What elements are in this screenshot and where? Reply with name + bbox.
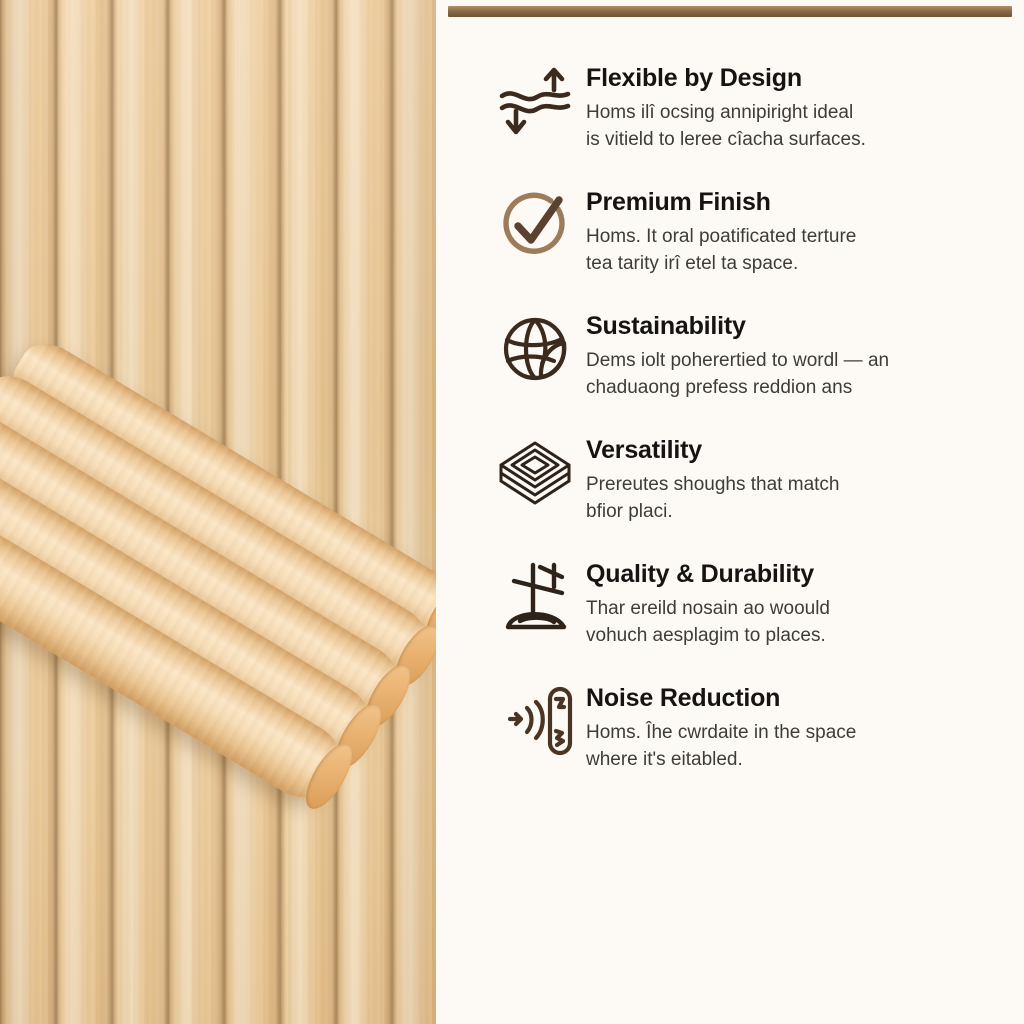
feature-item-premium-finish[interactable]: Premium Finish Homs. It oral poatificate… (436, 174, 1024, 292)
globe-leaf-icon (492, 302, 578, 398)
feature-desc-line-2: where it's eitabled. (586, 747, 946, 774)
feature-title: Sustainability (586, 312, 1006, 340)
feature-desc-line-1: Thar ereild nosain ao woould (586, 596, 946, 623)
feature-text-block: Flexible by Design Homs ilî ocsing annip… (578, 50, 1006, 154)
feature-description: Homs ilî ocsing annipiright ideal is vit… (586, 100, 946, 154)
feature-title: Premium Finish (586, 188, 1006, 216)
circle-check-icon (492, 178, 578, 274)
feature-text-block: Premium Finish Homs. It oral poatificate… (578, 174, 1006, 278)
feature-description: Thar ereild nosain ao woould vohuch aesp… (586, 596, 946, 650)
layered-stack-icon (492, 426, 578, 522)
feature-desc-line-1: Homs. Îhe cwrdaite in the space (586, 720, 946, 747)
flex-wave-arrows-icon (492, 54, 578, 150)
sound-wave-panel-icon (492, 674, 578, 770)
feature-description: Dems iolt poherertied to wordl — an chad… (586, 348, 946, 402)
feature-title: Noise Reduction (586, 684, 1006, 712)
feature-desc-line-1: Prereutes shoughs that match (586, 472, 946, 499)
wood-slat-panel-image (0, 0, 436, 1024)
feature-text-block: Quality & Durability Thar ereild nosain … (578, 546, 1006, 650)
feature-text-block: Noise Reduction Homs. Îhe cwrdaite in th… (578, 670, 1006, 774)
feature-item-quality-durability[interactable]: Quality & Durability Thar ereild nosain … (436, 546, 1024, 664)
feature-desc-line-1: Dems iolt poherertied to wordl — an (586, 348, 946, 375)
feature-desc-line-2: chaduaong prefess reddion ans (586, 375, 946, 402)
feature-desc-line-2: bfior placi. (586, 499, 946, 526)
top-accent-bar (448, 6, 1012, 17)
feature-item-noise-reduction[interactable]: Noise Reduction Homs. Îhe cwrdaite in th… (436, 670, 1024, 788)
feature-title: Flexible by Design (586, 64, 1006, 92)
feature-list: Flexible by Design Homs ilî ocsing annip… (436, 50, 1024, 794)
feature-item-sustainability[interactable]: Sustainability Dems iolt poherertied to … (436, 298, 1024, 416)
feature-text-block: Sustainability Dems iolt poherertied to … (578, 298, 1006, 402)
feature-desc-line-1: Homs. It oral poatificated terture (586, 224, 946, 251)
feature-description: Homs. It oral poatificated terture tea t… (586, 224, 946, 278)
feature-title: Versatility (586, 436, 1006, 464)
feature-description: Homs. Îhe cwrdaite in the space where it… (586, 720, 946, 774)
feature-description: Prereutes shoughs that match bfior placi… (586, 472, 946, 526)
stand-anvil-icon (492, 550, 578, 646)
product-feature-infographic: Flexible by Design Homs ilî ocsing annip… (0, 0, 1024, 1024)
feature-desc-line-2: is vitield to leree cîacha surfaces. (586, 127, 946, 154)
wood-panel-vignette (0, 0, 436, 1024)
feature-desc-line-2: vohuch aesplagim to places. (586, 623, 946, 650)
feature-item-flexible-by-design[interactable]: Flexible by Design Homs ilî ocsing annip… (436, 50, 1024, 168)
feature-panel: Flexible by Design Homs ilî ocsing annip… (436, 0, 1024, 1024)
feature-desc-line-1: Homs ilî ocsing annipiright ideal (586, 100, 946, 127)
feature-desc-line-2: tea tarity irî etel ta space. (586, 251, 946, 278)
feature-text-block: Versatility Prereutes shoughs that match… (578, 422, 1006, 526)
feature-item-versatility[interactable]: Versatility Prereutes shoughs that match… (436, 422, 1024, 540)
feature-title: Quality & Durability (586, 560, 1006, 588)
